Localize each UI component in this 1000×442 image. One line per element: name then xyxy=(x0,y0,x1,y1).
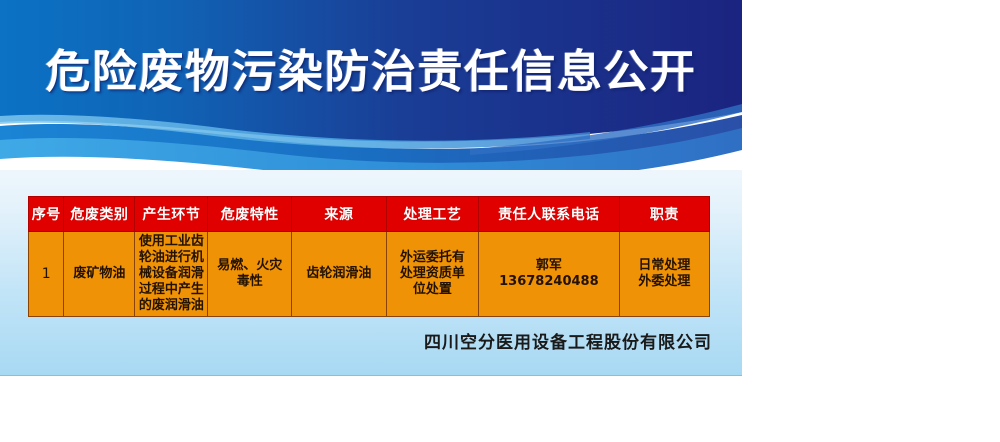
cell-serial: 1 xyxy=(29,232,64,317)
page-title: 危险废物污染防治责任信息公开 xyxy=(0,44,742,100)
cell-contact: 郭军13678240488 xyxy=(479,232,620,317)
cell-property: 易燃、火灾毒性 xyxy=(208,232,292,317)
information-poster: 危险废物污染防治责任信息公开 序号 危废类别 产生环节 危废特性 来源 处理工艺… xyxy=(0,0,742,375)
column-header-stage: 产生环节 xyxy=(135,197,208,232)
poster-banner: 危险废物污染防治责任信息公开 xyxy=(0,0,742,170)
column-header-contact: 责任人联系电话 xyxy=(479,197,620,232)
column-header-category: 危废类别 xyxy=(64,197,135,232)
column-header-duty: 职责 xyxy=(619,197,709,232)
column-header-serial: 序号 xyxy=(29,197,64,232)
table-row: 1 废矿物油 使用工业齿轮油进行机械设备润滑过程中产生的废润滑油 易燃、火灾毒性… xyxy=(29,232,710,317)
column-header-property: 危废特性 xyxy=(208,197,292,232)
column-header-process: 处理工艺 xyxy=(386,197,478,232)
company-name: 四川空分医用设备工程股份有限公司 xyxy=(0,328,712,353)
column-header-source: 来源 xyxy=(292,197,387,232)
cell-duty: 日常处理外委处理 xyxy=(619,232,709,317)
cell-category: 废矿物油 xyxy=(64,232,135,317)
cell-stage: 使用工业齿轮油进行机械设备润滑过程中产生的废润滑油 xyxy=(135,232,208,317)
cell-process: 外运委托有处理资质单位处置 xyxy=(386,232,478,317)
table-header-row: 序号 危废类别 产生环节 危废特性 来源 处理工艺 责任人联系电话 职责 xyxy=(29,197,710,232)
cell-source: 齿轮润滑油 xyxy=(292,232,387,317)
hazardous-waste-table: 序号 危废类别 产生环节 危废特性 来源 处理工艺 责任人联系电话 职责 1 废… xyxy=(28,196,710,317)
